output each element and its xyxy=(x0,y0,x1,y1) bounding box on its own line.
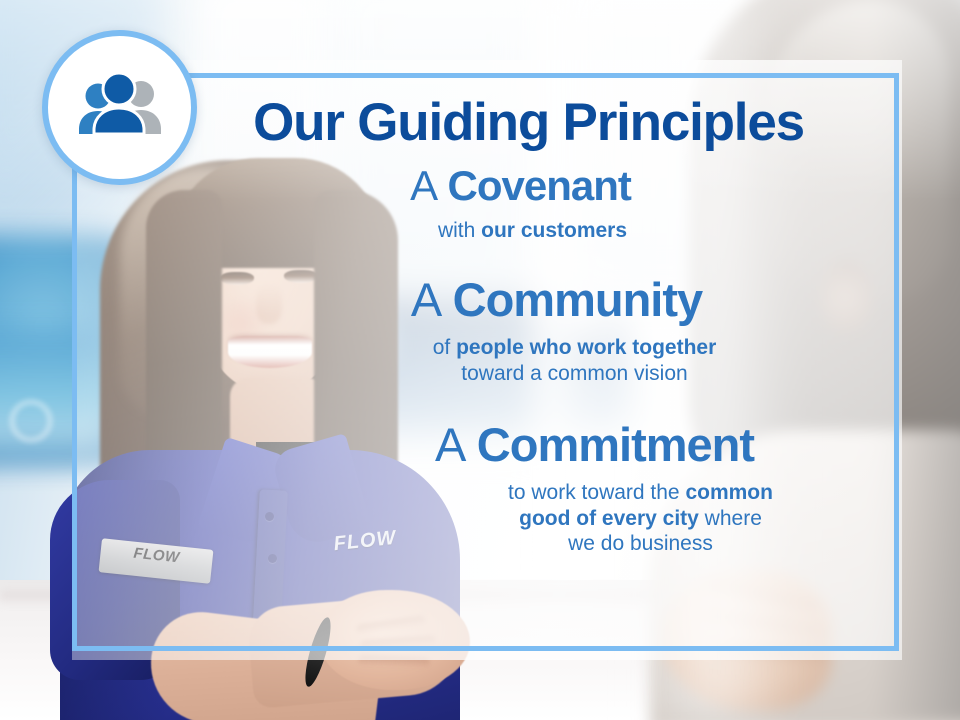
principle-commitment: A Commitment to work toward the common g… xyxy=(102,420,869,557)
principle-covenant: A Covenant with our customers xyxy=(102,164,869,243)
guiding-principles-banner: FLOW FLOW xyxy=(0,0,960,720)
principle-community-word: Community xyxy=(453,273,703,326)
principle-community-article: A xyxy=(411,273,440,326)
principle-commitment-word: Commitment xyxy=(477,418,754,471)
principle-covenant-subtitle-regular: with xyxy=(438,219,481,242)
principle-commitment-subtitle-bold-1: common xyxy=(685,481,773,504)
principles-content: Our Guiding Principles A Covenant with o… xyxy=(72,73,899,651)
photo-car-emblem xyxy=(10,400,52,442)
principle-commitment-subtitle-line2: good of every city where xyxy=(412,506,869,532)
principle-commitment-article: A xyxy=(435,418,464,471)
principle-commitment-subtitle-line1: to work toward the common xyxy=(412,480,869,506)
principle-covenant-heading: A Covenant xyxy=(172,164,869,209)
principle-community-subtitle-regular: of xyxy=(433,336,456,359)
principle-covenant-subtitle-bold: our customers xyxy=(481,219,627,242)
principle-commitment-heading: A Commitment xyxy=(320,420,869,470)
principle-community-subtitle: of people who work together toward a com… xyxy=(244,335,869,386)
principle-community-subtitle-line1: of people who work together xyxy=(280,335,869,361)
principle-commitment-subtitle-bold-2: good of every city xyxy=(519,507,699,530)
principle-community-subtitle-line2: toward a common vision xyxy=(280,361,869,387)
principle-community: A Community of people who work together … xyxy=(102,275,869,386)
principle-community-heading: A Community xyxy=(244,275,869,325)
page-title: Our Guiding Principles xyxy=(167,95,804,150)
people-group-badge xyxy=(42,30,197,185)
principle-commitment-subtitle-regular-2: where xyxy=(699,507,762,530)
principle-covenant-subtitle: with our customers xyxy=(172,218,869,244)
principle-covenant-word: Covenant xyxy=(448,162,631,209)
principle-commitment-subtitle-regular-1: to work toward the xyxy=(508,481,685,504)
principle-commitment-subtitle-line3: we do business xyxy=(412,531,869,557)
principle-community-subtitle-bold: people who work together xyxy=(456,336,716,359)
people-group-icon xyxy=(72,73,168,143)
principle-commitment-subtitle: to work toward the common good of every … xyxy=(320,480,869,557)
principle-covenant-article: A xyxy=(410,162,436,209)
